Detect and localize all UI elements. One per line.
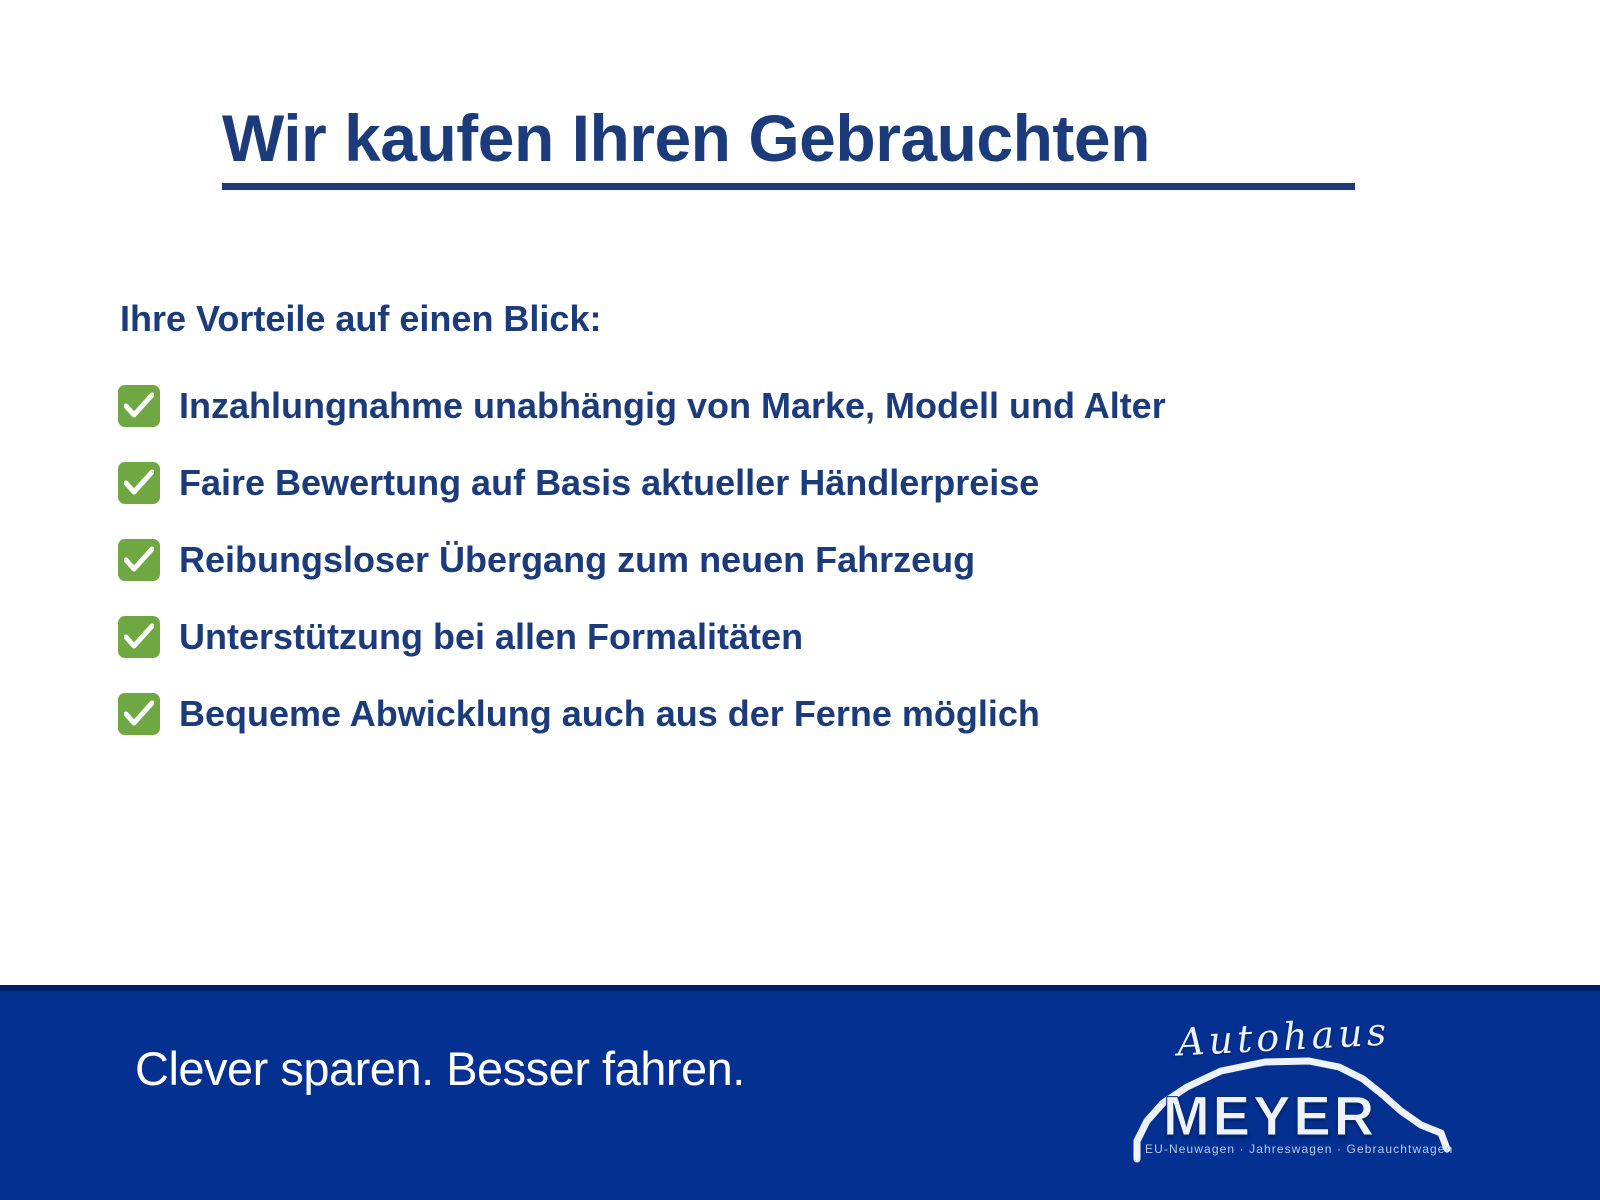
list-item: Inzahlungnahme unabhängig von Marke, Mod… <box>118 378 1518 434</box>
benefits-list: Inzahlungnahme unabhängig von Marke, Mod… <box>118 378 1518 763</box>
page-title: Wir kaufen Ihren Gebrauchten <box>222 104 1382 173</box>
benefit-label: Reibungsloser Übergang zum neuen Fahrzeu… <box>179 542 975 578</box>
check-square-icon <box>118 539 160 581</box>
check-square-icon <box>118 616 160 658</box>
check-square-icon <box>118 385 160 427</box>
logo-subline: EU-Neuwagen · Jahreswagen · Gebrauchtwag… <box>1145 1142 1453 1156</box>
footer-band: Clever sparen. Besser fahren. Autohaus M… <box>0 985 1600 1200</box>
list-item: Unterstützung bei allen Formalitäten <box>118 609 1518 665</box>
benefit-label: Inzahlungnahme unabhängig von Marke, Mod… <box>179 388 1166 424</box>
list-item: Faire Bewertung auf Basis aktueller Händ… <box>118 455 1518 511</box>
list-item: Bequeme Abwicklung auch aus der Ferne mö… <box>118 686 1518 742</box>
logo-name: MEYER <box>1163 1083 1377 1148</box>
subtitle: Ihre Vorteile auf einen Blick: <box>120 298 601 340</box>
headline-block: Wir kaufen Ihren Gebrauchten <box>222 104 1382 190</box>
promo-slide: Wir kaufen Ihren Gebrauchten Ihre Vortei… <box>0 0 1600 1200</box>
check-square-icon <box>118 462 160 504</box>
check-square-icon <box>118 693 160 735</box>
list-item: Reibungsloser Übergang zum neuen Fahrzeu… <box>118 532 1518 588</box>
benefit-label: Faire Bewertung auf Basis aktueller Händ… <box>179 465 1039 501</box>
footer-tagline: Clever sparen. Besser fahren. <box>135 1041 745 1096</box>
dealer-logo: Autohaus MEYER EU-Neuwagen · Jahreswagen… <box>1125 1009 1455 1169</box>
benefit-label: Unterstützung bei allen Formalitäten <box>179 619 803 655</box>
benefit-label: Bequeme Abwicklung auch aus der Ferne mö… <box>179 696 1040 732</box>
headline-underline <box>222 183 1355 190</box>
